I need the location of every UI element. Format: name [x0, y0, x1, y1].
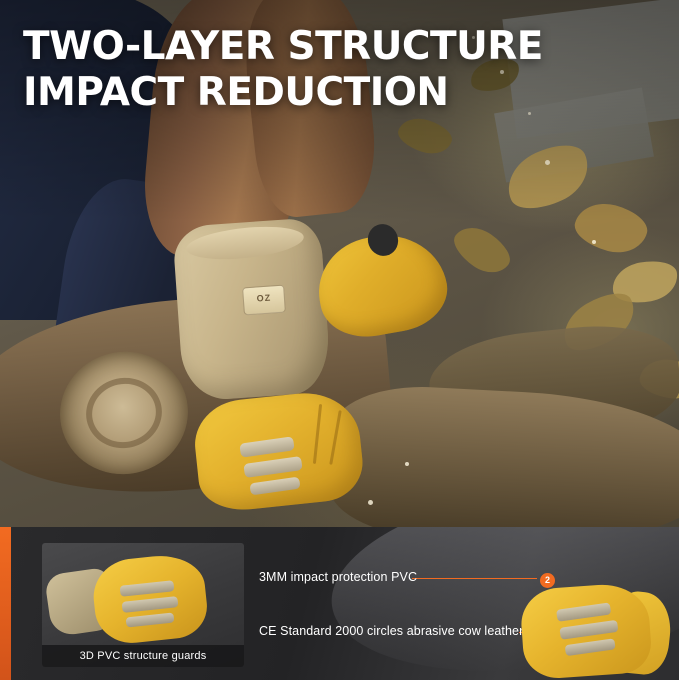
sawdust-particle	[368, 500, 373, 505]
detail-glove	[519, 582, 653, 680]
detail-glove-pad	[556, 602, 611, 621]
sawdust-particle	[545, 160, 550, 165]
callout-text-2: CE Standard 2000 circles abrasive cow le…	[259, 624, 523, 638]
detail-glove-pad	[565, 638, 616, 656]
panel-accent-bar	[0, 527, 11, 680]
thumbnail-caption: 3D PVC structure guards	[42, 645, 244, 667]
product-banner: OZ TWO-LAYER STRUCTURE IMPACT REDUCTION	[0, 0, 679, 680]
glove-brand-tag-text: OZ	[244, 292, 285, 305]
callout-badge-2: 2	[540, 573, 555, 588]
hero-photo: OZ TWO-LAYER STRUCTURE IMPACT REDUCTION	[0, 0, 679, 527]
glove-brand-tag: OZ	[242, 285, 286, 316]
hero-headline: TWO-LAYER STRUCTURE IMPACT REDUCTION	[23, 24, 543, 116]
sawdust-particle	[405, 462, 409, 466]
thumbnail-card: 3D PVC structure guards	[42, 543, 244, 667]
callout-leader-line-1	[412, 578, 537, 579]
callout-text-1: 3MM impact protection PVC	[259, 570, 417, 584]
detail-glove-pad	[559, 620, 618, 640]
sawdust-particle	[592, 240, 596, 244]
